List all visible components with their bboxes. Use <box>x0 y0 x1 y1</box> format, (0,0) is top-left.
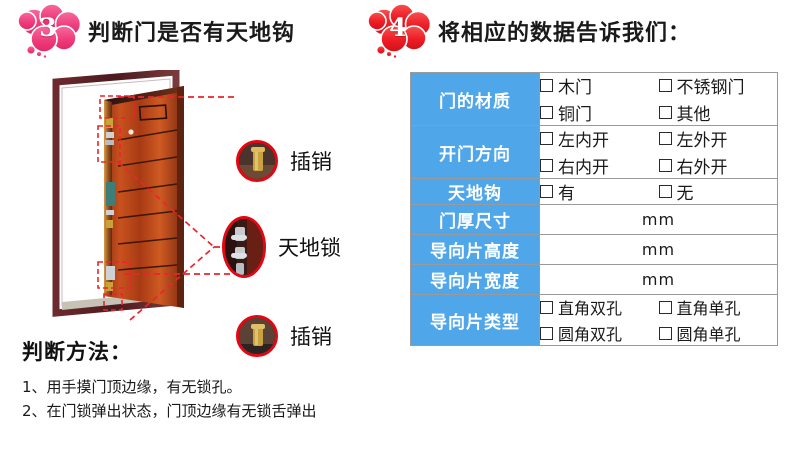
row-value-door-material: 木门 不锈钢门 铜门 其他 <box>540 73 778 126</box>
callout-thumbnail-lock <box>222 216 266 278</box>
method-block: 判断方法： 1、用手摸门顶边缘，有无锁孔。 2、在门锁弹出状态，门顶边缘有无锁舌… <box>22 336 412 424</box>
row-value-open-direction: 左内开 左外开 右内开 右外开 <box>540 126 778 179</box>
option-label: 直角双孔 <box>558 295 622 319</box>
option-label: 直角单孔 <box>677 295 741 319</box>
checkbox-option[interactable]: 直角单孔 <box>659 295 778 319</box>
option-label: 右外开 <box>677 153 728 178</box>
method-line-2: 2、在门锁弹出状态，门顶边缘有无锁舌弹出 <box>22 399 412 423</box>
unit-label: mm <box>540 235 777 264</box>
option-label: 有 <box>558 179 575 204</box>
option-label: 无 <box>677 179 694 204</box>
row-label-sky-ground-hook: 天地钩 <box>411 179 540 205</box>
section-title-4: 将相应的数据告诉我们： <box>438 15 691 49</box>
row-label-guide-width: 导向片宽度 <box>411 265 540 295</box>
method-line-1: 1、用手摸门顶边缘，有无锁孔。 <box>22 375 412 399</box>
method-title: 判断方法： <box>22 336 412 366</box>
option-label: 左外开 <box>677 126 728 151</box>
callout-label-middle: 天地锁 <box>278 232 341 262</box>
checkbox-option[interactable]: 左外开 <box>659 126 778 151</box>
checkbox-option[interactable]: 右内开 <box>540 153 659 178</box>
step-badge-3: 3 <box>14 4 92 60</box>
row-value-guide-height[interactable]: mm <box>540 235 778 265</box>
option-label: 其他 <box>677 100 711 125</box>
callout-label-top: 插销 <box>290 146 332 176</box>
callout-top-bolt: 插销 <box>236 140 332 182</box>
option-label: 铜门 <box>558 100 592 125</box>
checkbox-icon[interactable] <box>659 106 672 119</box>
thought-bubble-icon <box>364 4 442 60</box>
row-value-guide-type: 直角双孔 直角单孔 圆角双孔 圆角单孔 <box>540 295 778 346</box>
checkbox-icon[interactable] <box>540 327 553 340</box>
option-label: 圆角单孔 <box>677 321 741 345</box>
section-header-4: 4 将相应的数据告诉我们： <box>364 4 691 60</box>
door-illustration: 插销 天地锁 <box>0 62 400 332</box>
row-value-sky-ground-hook: 有 无 <box>540 179 778 205</box>
checkbox-icon[interactable] <box>659 327 672 340</box>
checkbox-option[interactable]: 右外开 <box>659 153 778 178</box>
checkbox-icon[interactable] <box>540 79 553 92</box>
table-row: 导向片宽度 mm <box>411 265 778 295</box>
section-header-3: 3 判断门是否有天地钩 <box>14 4 295 60</box>
table-row: 门厚尺寸 mm <box>411 205 778 235</box>
unit-label: mm <box>540 205 777 234</box>
checkbox-icon[interactable] <box>659 79 672 92</box>
checkbox-option[interactable]: 圆角单孔 <box>659 321 778 345</box>
checkbox-option[interactable]: 圆角双孔 <box>540 321 659 345</box>
option-label: 右内开 <box>558 153 609 178</box>
checkbox-option[interactable]: 无 <box>659 179 778 204</box>
checkbox-option[interactable]: 木门 <box>540 73 659 98</box>
row-label-open-direction: 开门方向 <box>411 126 540 179</box>
option-label: 不锈钢门 <box>677 73 745 98</box>
table-row: 导向片类型 直角双孔 直角单孔 圆角双孔 圆角单孔 <box>411 295 778 346</box>
checkbox-icon[interactable] <box>540 185 553 198</box>
checkbox-icon[interactable] <box>540 301 553 314</box>
row-label-guide-type: 导向片类型 <box>411 295 540 346</box>
callout-leader-lines <box>0 62 400 332</box>
checkbox-option[interactable]: 直角双孔 <box>540 295 659 319</box>
step-badge-4: 4 <box>364 4 442 60</box>
option-label: 左内开 <box>558 126 609 151</box>
table-row: 门的材质 木门 不锈钢门 铜门 其他 <box>411 73 778 126</box>
checkbox-option[interactable]: 其他 <box>659 100 778 125</box>
checkbox-option[interactable]: 左内开 <box>540 126 659 151</box>
thought-bubble-icon <box>14 4 92 60</box>
section-title-3: 判断门是否有天地钩 <box>88 15 295 49</box>
row-label-door-material: 门的材质 <box>411 73 540 126</box>
table-row: 开门方向 左内开 左外开 右内开 右外开 <box>411 126 778 179</box>
spec-table: 门的材质 木门 不锈钢门 铜门 其他 开门方向 左内开 左外开 <box>410 72 778 346</box>
checkbox-icon[interactable] <box>659 301 672 314</box>
checkbox-icon[interactable] <box>659 185 672 198</box>
callout-sky-ground-lock: 天地锁 <box>222 216 341 278</box>
row-label-guide-height: 导向片高度 <box>411 235 540 265</box>
row-label-door-thickness: 门厚尺寸 <box>411 205 540 235</box>
row-value-door-thickness[interactable]: mm <box>540 205 778 235</box>
checkbox-icon[interactable] <box>540 132 553 145</box>
table-row: 导向片高度 mm <box>411 235 778 265</box>
checkbox-icon[interactable] <box>540 106 553 119</box>
checkbox-option[interactable]: 铜门 <box>540 100 659 125</box>
callout-thumbnail-bolt-top <box>236 140 278 182</box>
slide-canvas: 3 判断门是否有天地钩 <box>0 0 790 471</box>
option-label: 木门 <box>558 73 592 98</box>
checkbox-icon[interactable] <box>659 159 672 172</box>
checkbox-icon[interactable] <box>659 132 672 145</box>
checkbox-icon[interactable] <box>540 159 553 172</box>
option-label: 圆角双孔 <box>558 321 622 345</box>
unit-label: mm <box>540 265 777 294</box>
row-value-guide-width[interactable]: mm <box>540 265 778 295</box>
checkbox-option[interactable]: 不锈钢门 <box>659 73 778 98</box>
checkbox-option[interactable]: 有 <box>540 179 659 204</box>
table-row: 天地钩 有 无 <box>411 179 778 205</box>
